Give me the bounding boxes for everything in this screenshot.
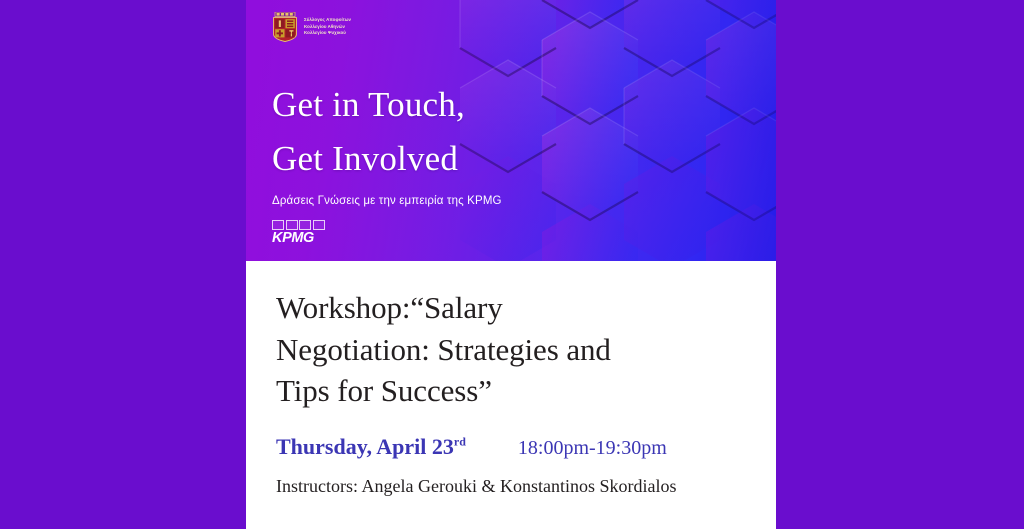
kpmg-logo-icon: KPMG (272, 220, 328, 246)
banner-subtitle: Δράσεις Γνώσεις με την εμπειρία της KPMG (272, 195, 502, 207)
banner-headline-block: Get in Touch, Get Involved Δράσεις Γνώσε… (272, 78, 502, 207)
org-name-line-1: Σύλλογος Αποφοίτων (304, 17, 351, 24)
workshop-title-line-1: Workshop:“Salary (276, 287, 746, 329)
kpmg-squares-icon (272, 220, 328, 230)
event-date: Thursday, April 23rd (276, 434, 466, 460)
event-date-ordinal: rd (454, 434, 466, 448)
org-name-line-2: Κολλεγίου Αθηνών (304, 24, 351, 31)
workshop-title-line-2: Negotiation: Strategies and (276, 329, 746, 371)
event-meta-row: Thursday, April 23rd 18:00pm-19:30pm (276, 434, 746, 460)
event-poster: Σύλλογος Αποφοίτων Κολλεγίου Αθηνών Κολλ… (246, 0, 776, 529)
poster-banner: Σύλλογος Αποφοίτων Κολλεγίου Αθηνών Κολλ… (246, 0, 776, 261)
org-name-line-3: Κολλεγίου Ψυχικού (304, 30, 351, 37)
organization-logo: Σύλλογος Αποφοίτων Κολλεγίου Αθηνών Κολλ… (272, 12, 351, 42)
kpmg-wordmark: KPMG (272, 231, 328, 246)
workshop-title-line-3: Tips for Success” (276, 370, 746, 412)
workshop-title: Workshop:“Salary Negotiation: Strategies… (276, 287, 746, 412)
poster-content: Workshop:“Salary Negotiation: Strategies… (246, 261, 776, 529)
event-time: 18:00pm-19:30pm (518, 437, 667, 460)
event-date-text: Thursday, April 23 (276, 434, 454, 459)
poster-canvas: Σύλλογος Αποφοίτων Κολλεγίου Αθηνών Κολλ… (0, 0, 1024, 529)
athens-college-crest-icon (272, 12, 298, 42)
headline-line-2: Get Involved (272, 132, 502, 186)
event-instructors: Instructors: Angela Gerouki & Konstantin… (276, 476, 746, 497)
headline-line-1: Get in Touch, (272, 78, 502, 132)
